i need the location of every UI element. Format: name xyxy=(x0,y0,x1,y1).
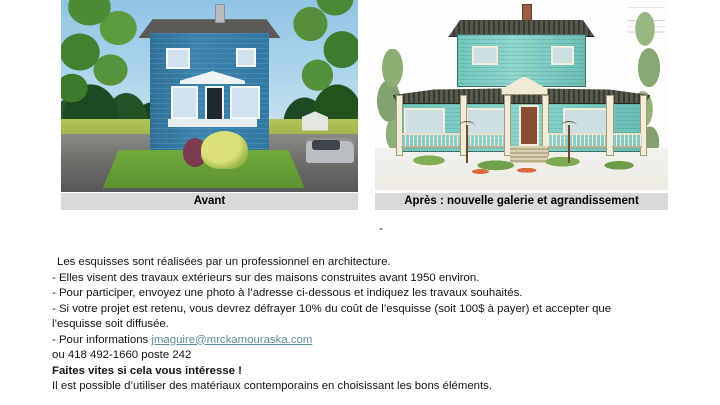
sketch-flower-beds xyxy=(393,148,651,178)
body-line-6-contact: - Pour informations jmaguire@mrckamouras… xyxy=(52,333,677,349)
body-line-9: Il est possible d’utiliser des matériaux… xyxy=(52,379,677,395)
sketch-shrub-left xyxy=(466,125,468,163)
stray-dash-mark: - xyxy=(379,222,383,234)
sketch-front-door xyxy=(519,105,540,147)
before-bay-window-right xyxy=(230,86,260,119)
caption-before: Avant xyxy=(61,193,358,210)
before-upper-window-left xyxy=(166,48,190,69)
body-line-1: Les esquisses sont réalisées par un prof… xyxy=(52,255,677,271)
body-line-4: - Si votre projet est retenu, vous devre… xyxy=(52,302,677,318)
body-line-2: - Elles visent des travaux extérieurs su… xyxy=(52,271,677,287)
sketch-railing-1 xyxy=(401,133,460,148)
sketch-shrub-right xyxy=(568,125,570,163)
before-upper-window-right xyxy=(236,48,255,67)
before-bay-window-left xyxy=(171,86,198,119)
before-photo-stage xyxy=(61,0,358,192)
sketch-railing-2 xyxy=(466,133,504,148)
sketch-railing-3 xyxy=(548,133,607,148)
shrub-light xyxy=(201,131,249,169)
before-porch-deck xyxy=(168,119,257,127)
body-line-7-phone: ou 418 492-1660 poste 242 xyxy=(52,348,677,364)
contact-prefix: - Pour informations xyxy=(52,334,151,346)
before-photo xyxy=(61,0,358,192)
tree-left xyxy=(61,0,147,130)
body-line-5: l’esquisse soit diffusée. xyxy=(52,317,677,333)
body-text-block: Les esquisses sont réalisées par un prof… xyxy=(52,255,677,395)
sketch-window-left xyxy=(404,108,445,135)
body-line-3: - Pour participer, envoyez une photo à l… xyxy=(52,286,677,302)
sketch-dormer-window-left xyxy=(472,46,498,65)
sketch-dormer-window-right xyxy=(551,46,574,65)
email-link[interactable]: jmaguire@mrckamouraska.com xyxy=(151,334,312,346)
caption-after: Après : nouvelle galerie et agrandisseme… xyxy=(375,193,668,210)
parked-car xyxy=(306,138,354,163)
before-front-door xyxy=(205,86,224,122)
before-chimney xyxy=(215,4,225,23)
body-line-8-callout: Faites vites si cela vous intéresse ! xyxy=(52,364,677,380)
after-rendering xyxy=(375,0,668,190)
sketch-annotations xyxy=(627,4,665,46)
sketch-railing-4 xyxy=(612,133,641,148)
page-root: Avant Après : nouvelle galerie et agrand… xyxy=(0,0,720,405)
after-rendering-stage xyxy=(375,0,668,190)
